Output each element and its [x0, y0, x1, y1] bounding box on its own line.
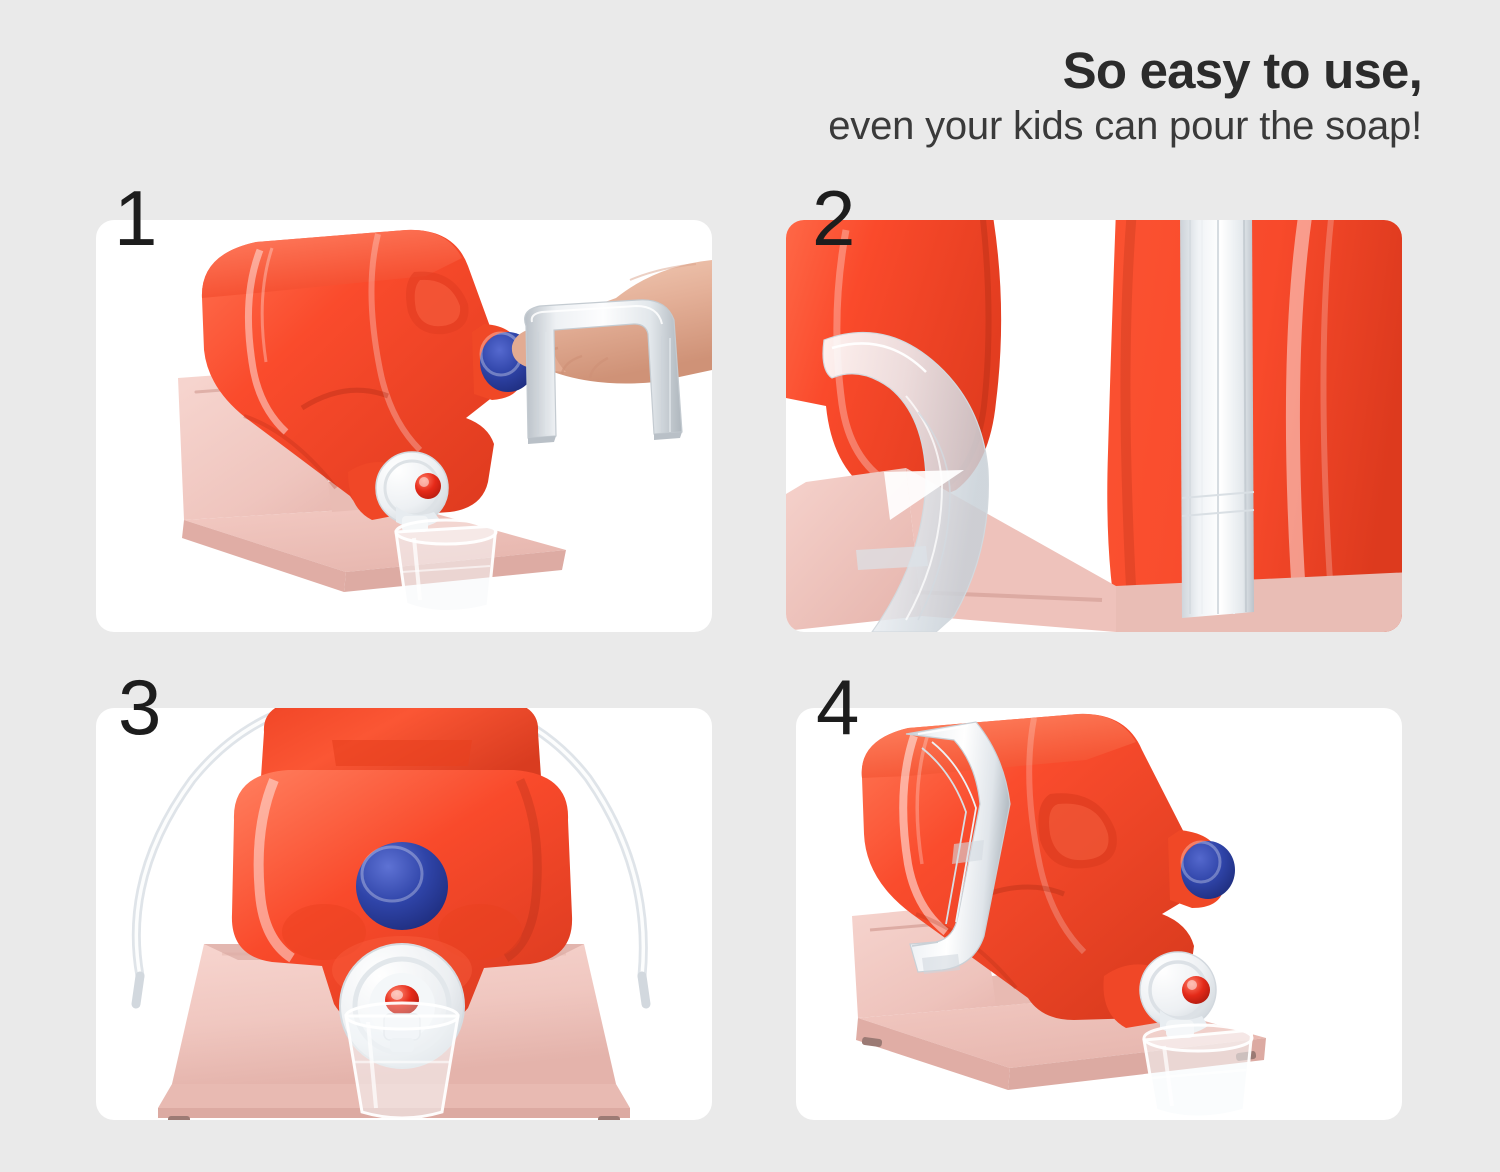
- cup-group: [1144, 1025, 1252, 1117]
- step-number-4: 4: [816, 668, 857, 746]
- strap-vertical: [1180, 220, 1254, 618]
- step-panel-3: [96, 708, 712, 1120]
- step-panel-4: [796, 708, 1402, 1120]
- spigot-button: [1182, 976, 1210, 1004]
- cup-group: [346, 1003, 458, 1118]
- step-1-svg: [96, 220, 712, 632]
- step-4-illustration: [796, 708, 1402, 1120]
- step-number-2: 2: [812, 179, 853, 257]
- step-number-1: 1: [114, 179, 155, 257]
- step-1-illustration: [96, 220, 712, 632]
- cup-group: [396, 520, 496, 612]
- headline: So easy to use, even your kids can pour …: [522, 44, 1422, 150]
- spigot-button: [415, 473, 441, 499]
- poster-canvas: So easy to use, even your kids can pour …: [0, 0, 1500, 1172]
- step-2-illustration: [786, 220, 1402, 632]
- bottle-cap: [1181, 841, 1235, 899]
- step-2-svg: [786, 220, 1402, 632]
- step-number-3: 3: [118, 668, 159, 746]
- headline-line-1: So easy to use,: [522, 44, 1422, 98]
- step-panel-2: [786, 220, 1402, 632]
- step-3-illustration: [96, 708, 712, 1120]
- step-4-svg: [796, 708, 1402, 1120]
- step-panel-1: [96, 220, 712, 632]
- headline-line-2: even your kids can pour the soap!: [522, 102, 1422, 150]
- step-3-svg: [96, 708, 712, 1120]
